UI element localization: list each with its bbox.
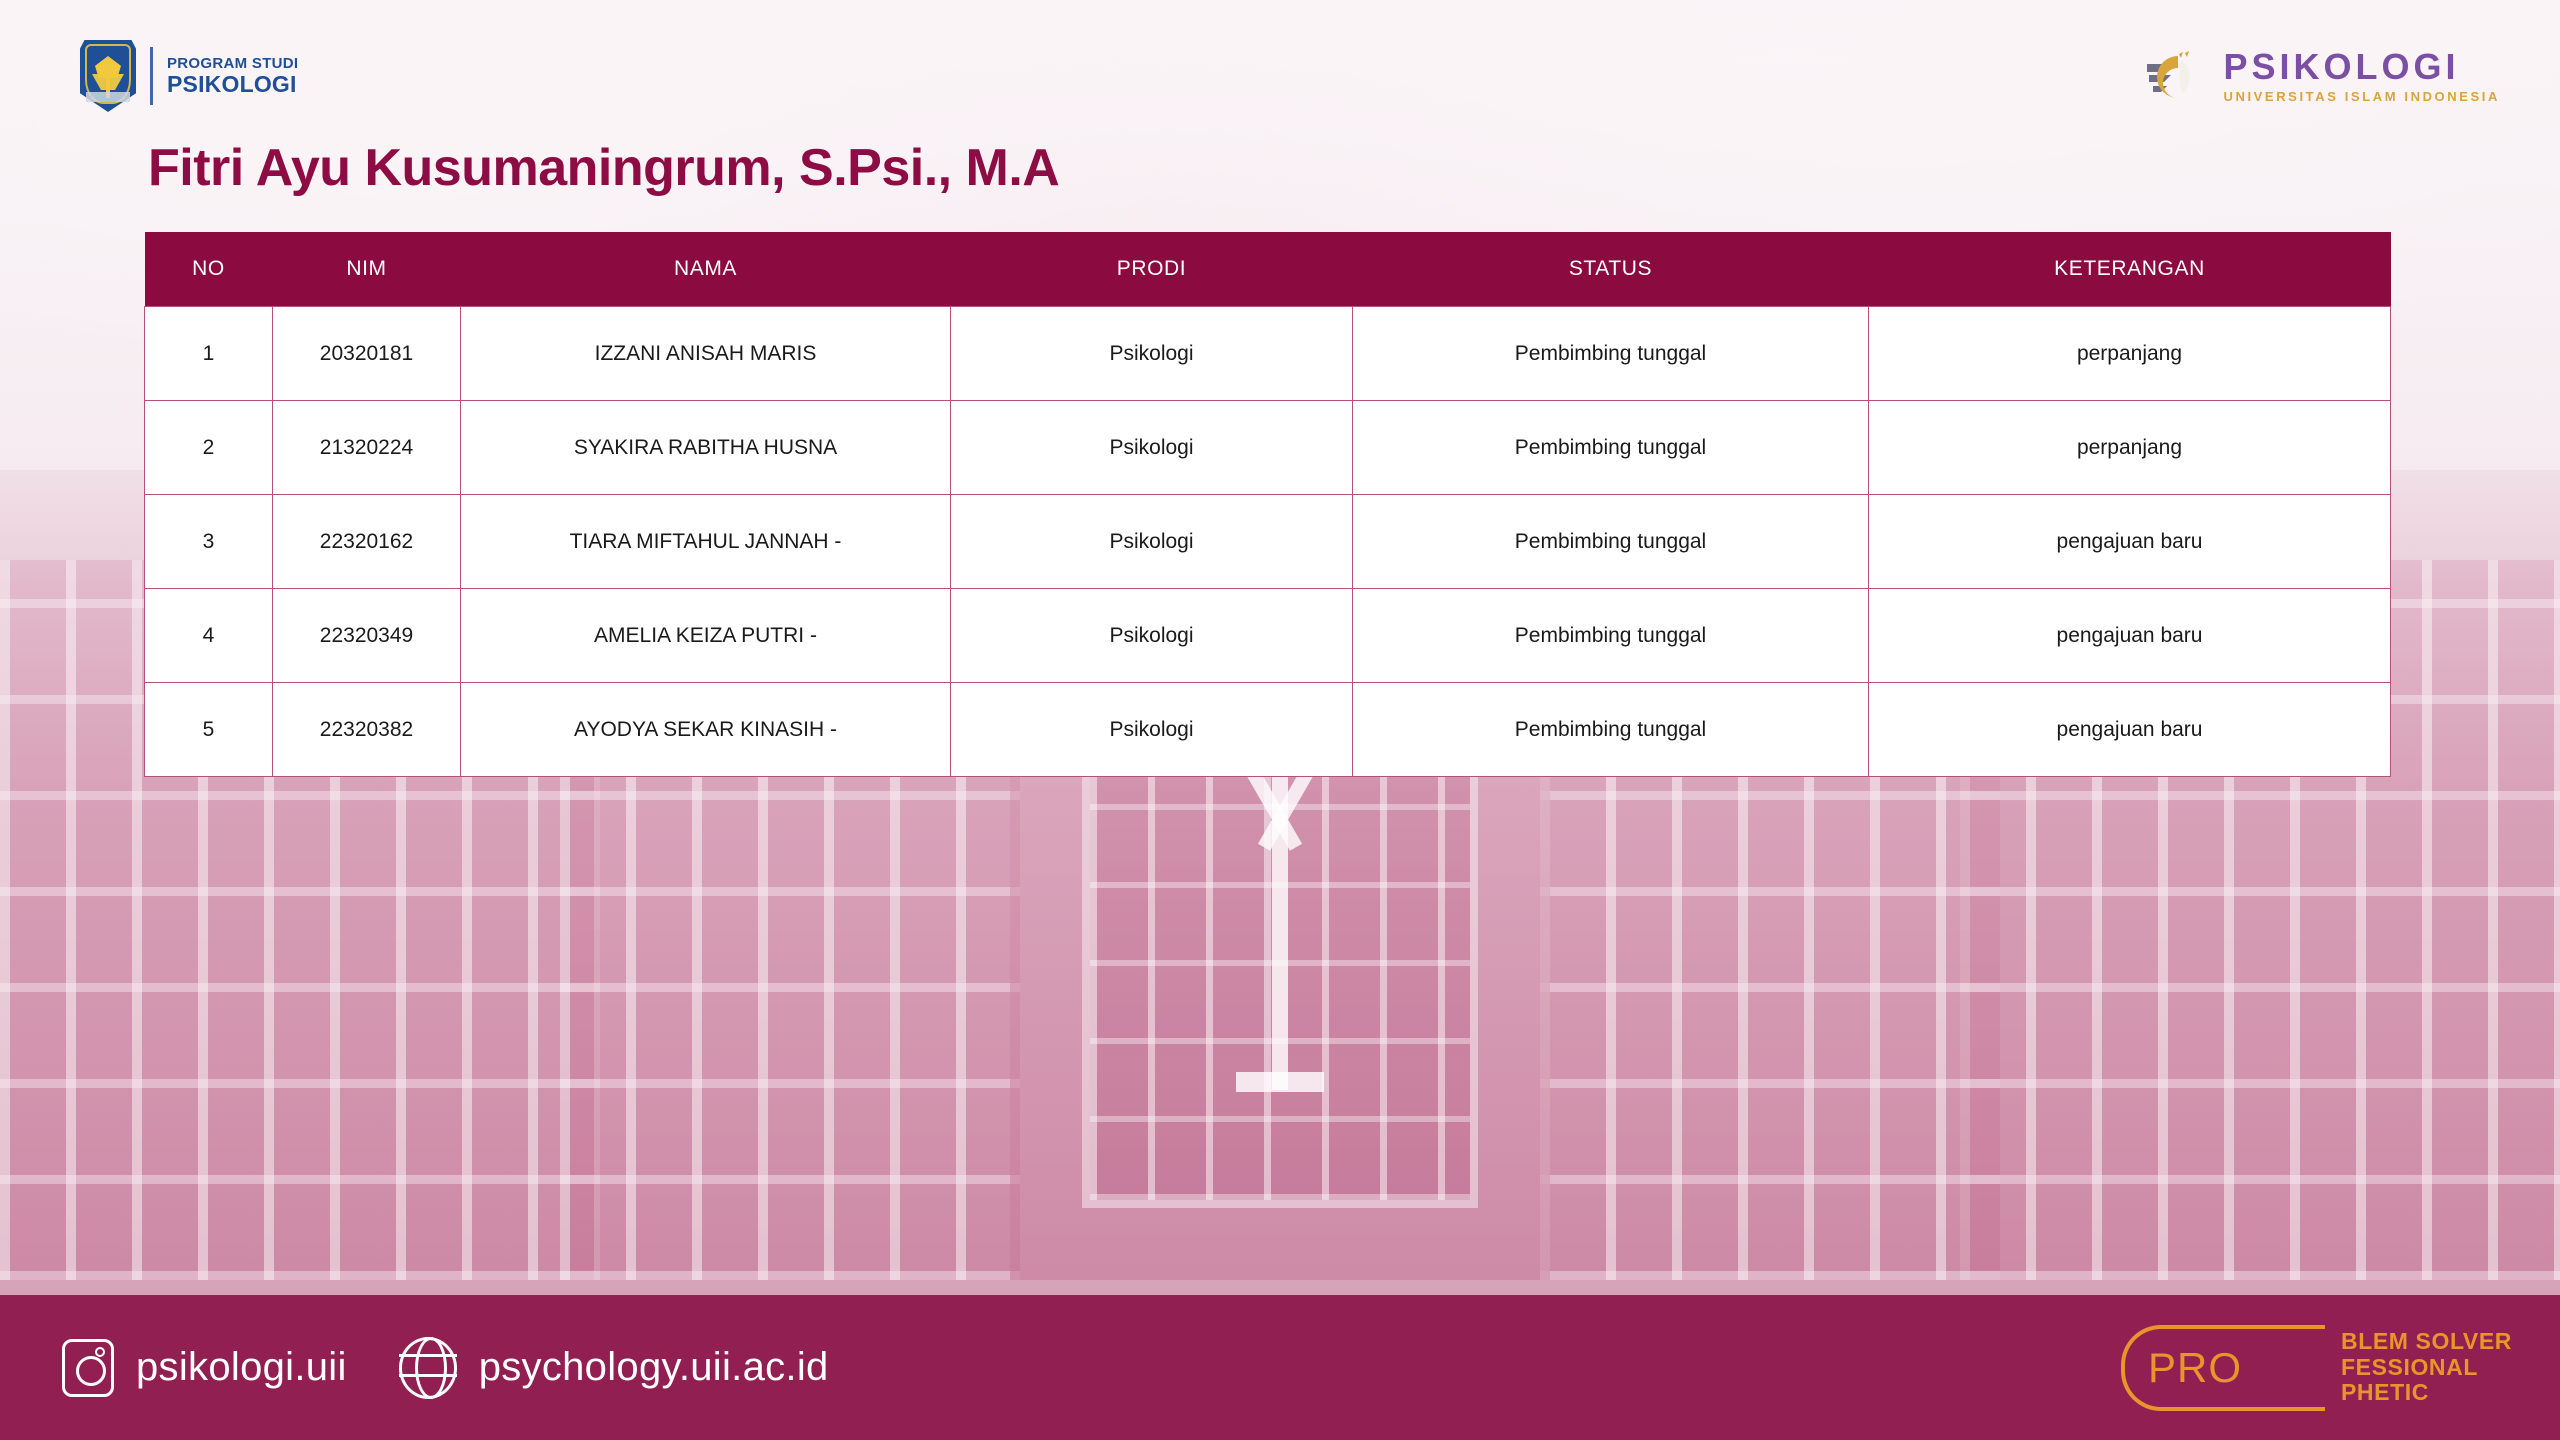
cell-prodi: Psikologi	[951, 589, 1353, 683]
uii-shield-icon	[80, 40, 136, 112]
top-bar: PROGRAM STUDI PSIKOLOGI PSIKOLOGI UNIVER…	[0, 0, 2560, 125]
cell-keterangan: pengajuan baru	[1869, 683, 2391, 777]
cell-nama: IZZANI ANISAH MARIS	[461, 307, 951, 401]
pro-mark-text: PRO	[2148, 1344, 2242, 1392]
slide-canvas: PROGRAM STUDI PSIKOLOGI PSIKOLOGI UNIVER…	[0, 0, 2560, 1440]
pro-taglines: BLEM SOLVER FESSIONAL PHETIC	[2341, 1329, 2512, 1406]
column-header-keterangan: KETERANGAN	[1869, 232, 2391, 307]
cell-prodi: Psikologi	[951, 495, 1353, 589]
table-row: 2 21320224 SYAKIRA RABITHA HUSNA Psikolo…	[145, 401, 2391, 495]
program-studi-line2: PSIKOLOGI	[167, 72, 298, 96]
cell-keterangan: pengajuan baru	[1869, 495, 2391, 589]
instagram-handle: psikologi.uii	[136, 1345, 347, 1390]
footer-bar: psikologi.uii psychology.uii.ac.id PRO B…	[0, 1295, 2560, 1440]
column-header-prodi: PRODI	[951, 232, 1353, 307]
cell-nama: SYAKIRA RABITHA HUSNA	[461, 401, 951, 495]
cell-status: Pembimbing tunggal	[1353, 589, 1869, 683]
cell-no: 4	[145, 589, 273, 683]
cell-no: 3	[145, 495, 273, 589]
table-body: 1 20320181 IZZANI ANISAH MARIS Psikologi…	[145, 307, 2391, 777]
table-row: 5 22320382 AYODYA SEKAR KINASIH - Psikol…	[145, 683, 2391, 777]
cell-keterangan: pengajuan baru	[1869, 589, 2391, 683]
cell-prodi: Psikologi	[951, 683, 1353, 777]
cell-nama: AMELIA KEIZA PUTRI -	[461, 589, 951, 683]
table-row: 4 22320349 AMELIA KEIZA PUTRI - Psikolog…	[145, 589, 2391, 683]
psikologi-wordmark-line2: UNIVERSITAS ISLAM INDONESIA	[2223, 90, 2500, 103]
cell-nama: TIARA MIFTAHUL JANNAH -	[461, 495, 951, 589]
column-header-nim: NIM	[273, 232, 461, 307]
table-row: 1 20320181 IZZANI ANISAH MARIS Psikologi…	[145, 307, 2391, 401]
cell-keterangan: perpanjang	[1869, 307, 2391, 401]
pro-bracket-mark: PRO	[2121, 1325, 2249, 1411]
pro-tagline-1: BLEM SOLVER	[2341, 1329, 2512, 1355]
website-url: psychology.uii.ac.id	[479, 1345, 829, 1390]
psikologi-wordmark: PSIKOLOGI UNIVERSITAS ISLAM INDONESIA	[2223, 49, 2500, 103]
cell-keterangan: perpanjang	[1869, 401, 2391, 495]
table-header-row: NO NIM NAMA PRODI STATUS KETERANGAN	[145, 232, 2391, 307]
column-header-nama: NAMA	[461, 232, 951, 307]
pro-tagline-2: FESSIONAL	[2341, 1355, 2512, 1381]
cell-nama: AYODYA SEKAR KINASIH -	[461, 683, 951, 777]
psikologi-wordmark-line1: PSIKOLOGI	[2223, 49, 2500, 85]
cell-status: Pembimbing tunggal	[1353, 307, 1869, 401]
cell-prodi: Psikologi	[951, 401, 1353, 495]
cell-nim: 22320162	[273, 495, 461, 589]
psikologi-uii-logo: PSIKOLOGI UNIVERSITAS ISLAM INDONESIA	[2145, 48, 2500, 104]
instagram-icon	[62, 1339, 114, 1397]
roster-table-container: NO NIM NAMA PRODI STATUS KETERANGAN 1 20…	[144, 232, 2390, 777]
pro-logo: PRO BLEM SOLVER FESSIONAL PHETIC	[2121, 1325, 2512, 1411]
cell-no: 5	[145, 683, 273, 777]
program-studi-text: PROGRAM STUDI PSIKOLOGI	[167, 56, 298, 96]
globe-icon	[399, 1337, 457, 1399]
cell-status: Pembimbing tunggal	[1353, 495, 1869, 589]
website-url-group[interactable]: psychology.uii.ac.id	[399, 1337, 829, 1399]
psikologi-uii-logo-icon	[2145, 48, 2211, 104]
cell-prodi: Psikologi	[951, 307, 1353, 401]
program-studi-line1: PROGRAM STUDI	[167, 56, 298, 72]
cell-nim: 22320382	[273, 683, 461, 777]
column-header-no: NO	[145, 232, 273, 307]
cell-nim: 21320224	[273, 401, 461, 495]
pro-tagline-3: PHETIC	[2341, 1380, 2512, 1406]
cell-no: 1	[145, 307, 273, 401]
table-head: NO NIM NAMA PRODI STATUS KETERANGAN	[145, 232, 2391, 307]
cell-nim: 20320181	[273, 307, 461, 401]
logo-divider	[150, 47, 153, 105]
column-header-status: STATUS	[1353, 232, 1869, 307]
table-row: 3 22320162 TIARA MIFTAHUL JANNAH - Psiko…	[145, 495, 2391, 589]
cell-nim: 22320349	[273, 589, 461, 683]
cell-status: Pembimbing tunggal	[1353, 401, 1869, 495]
cell-status: Pembimbing tunggal	[1353, 683, 1869, 777]
instagram-handle-group[interactable]: psikologi.uii	[62, 1339, 347, 1397]
cell-no: 2	[145, 401, 273, 495]
page-title: Fitri Ayu Kusumaningrum, S.Psi., M.A	[148, 138, 1059, 198]
program-studi-lockup: PROGRAM STUDI PSIKOLOGI	[80, 40, 298, 112]
roster-table: NO NIM NAMA PRODI STATUS KETERANGAN 1 20…	[144, 232, 2391, 777]
